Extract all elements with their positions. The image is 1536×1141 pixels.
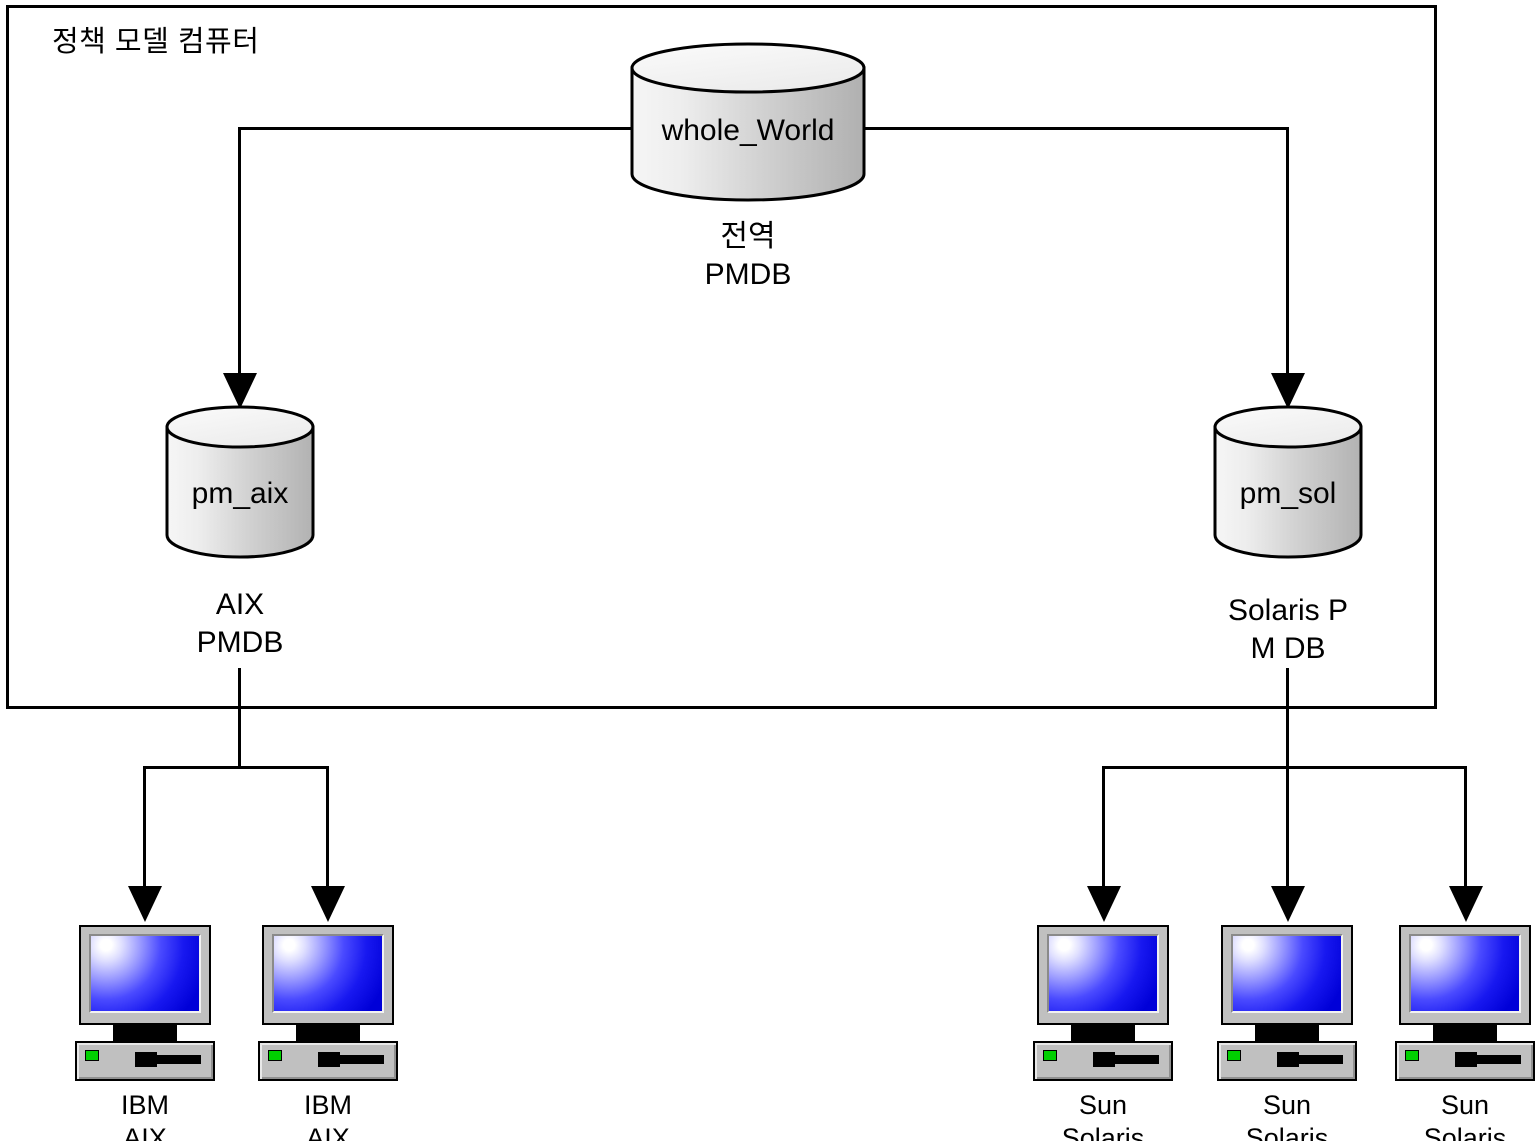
arrow-down-icon-to-aix [223,373,257,409]
host-label-line2: Solaris [1217,1122,1357,1141]
power-led-icon [268,1050,282,1061]
power-led-icon [1405,1050,1419,1061]
monitor-bezel [1047,934,1159,1013]
database-pm-aix[interactable]: pm_aix [165,405,315,560]
monitor-stand [296,1025,360,1041]
host-label-line2: Solaris [1033,1122,1173,1141]
host-sun-solaris-1[interactable]: Sun Solaris [1033,925,1173,1141]
host-sun-solaris-3[interactable]: Sun Solaris [1395,925,1535,1141]
host-label: Sun Solaris [1395,1089,1535,1141]
monitor-bezel [272,934,384,1013]
host-label-line2: Solaris [1395,1122,1535,1141]
arrow-down-icon-to-solaris [1271,373,1305,409]
connector-solaris-trunk [1286,668,1289,768]
connector-aix-host-1 [143,766,146,888]
host-label-line1: Sun [1217,1089,1357,1122]
host-label-line1: IBM [75,1089,215,1122]
database-pm-aix-caption-line2: PMDB [165,624,315,662]
monitor-screen [91,936,199,1011]
monitor-stand [1071,1025,1135,1041]
computer-tower-icon [258,1041,398,1081]
host-label: IBM AIX [258,1089,398,1141]
host-label-line1: Sun [1395,1089,1535,1122]
host-label-line2: AIX [75,1122,215,1141]
database-cylinder-icon [165,405,315,560]
host-ibm-aix-1[interactable]: IBM AIX [75,925,215,1141]
computer-tower-icon [1395,1041,1535,1081]
drive-slot-icon [332,1055,384,1064]
monitor-screen [1411,936,1519,1011]
database-cylinder-icon [1213,405,1363,560]
page-title: 정책 모델 컴퓨터 [52,18,259,60]
power-led-icon [1227,1050,1241,1061]
arrow-down-icon-aix-host-2 [311,886,345,922]
computer-monitor-icon [1221,925,1353,1025]
database-whole-world-caption-line2: PMDB [630,256,866,294]
drive-slot-icon [149,1055,201,1064]
host-label-line1: Sun [1033,1089,1173,1122]
monitor-stand [113,1025,177,1041]
host-label: Sun Solaris [1217,1089,1357,1141]
computer-tower-icon [1033,1041,1173,1081]
computer-monitor-icon [1399,925,1531,1025]
database-whole-world-caption-line1: 전역 [630,218,866,256]
database-cylinder-icon [630,42,866,200]
monitor-screen [1049,936,1157,1011]
monitor-screen [274,936,382,1011]
computer-monitor-icon [262,925,394,1025]
computer-monitor-icon [1037,925,1169,1025]
monitor-screen [1233,936,1341,1011]
computer-monitor-icon [79,925,211,1025]
database-whole-world[interactable]: whole_World [630,42,866,200]
host-label: IBM AIX [75,1089,215,1141]
database-pm-sol-caption-line1: Solaris P [1193,592,1383,630]
arrow-down-icon-solaris-host-3 [1449,886,1483,922]
host-label: Sun Solaris [1033,1089,1173,1141]
connector-aix-host-2 [326,766,329,888]
connector-aix-branch-bar [143,766,329,769]
database-pm-aix-caption-line1: AIX [165,586,315,624]
connector-solaris-host-3 [1464,766,1467,888]
database-pm-sol-caption-line2: M DB [1193,630,1383,668]
computer-tower-icon [1217,1041,1357,1081]
power-led-icon [1043,1050,1057,1061]
connector-solaris-host-1 [1102,766,1105,888]
arrow-down-icon-solaris-host-2 [1271,886,1305,922]
drive-slot-icon [1469,1055,1521,1064]
diagram-canvas: 정책 모델 컴퓨터 whole_World [0,0,1536,1141]
connector-solaris-host-2 [1286,766,1289,888]
drive-slot-icon [1291,1055,1343,1064]
monitor-bezel [89,934,201,1013]
monitor-bezel [1409,934,1521,1013]
database-pm-sol[interactable]: pm_sol [1213,405,1363,560]
connector-aix-trunk [238,668,241,768]
arrow-down-icon-aix-host-1 [128,886,162,922]
monitor-bezel [1231,934,1343,1013]
drive-slot-icon [1107,1055,1159,1064]
power-led-icon [85,1050,99,1061]
connector-solaris-branch-bar [1102,766,1466,769]
monitor-stand [1433,1025,1497,1041]
arrow-down-icon-solaris-host-1 [1087,886,1121,922]
monitor-stand [1255,1025,1319,1041]
connector-global-to-solaris [1286,127,1289,377]
host-label-line2: AIX [258,1122,398,1141]
computer-tower-icon [75,1041,215,1081]
host-label-line1: IBM [258,1089,398,1122]
host-ibm-aix-2[interactable]: IBM AIX [258,925,398,1141]
host-sun-solaris-2[interactable]: Sun Solaris [1217,925,1357,1141]
connector-global-to-aix [238,127,241,377]
